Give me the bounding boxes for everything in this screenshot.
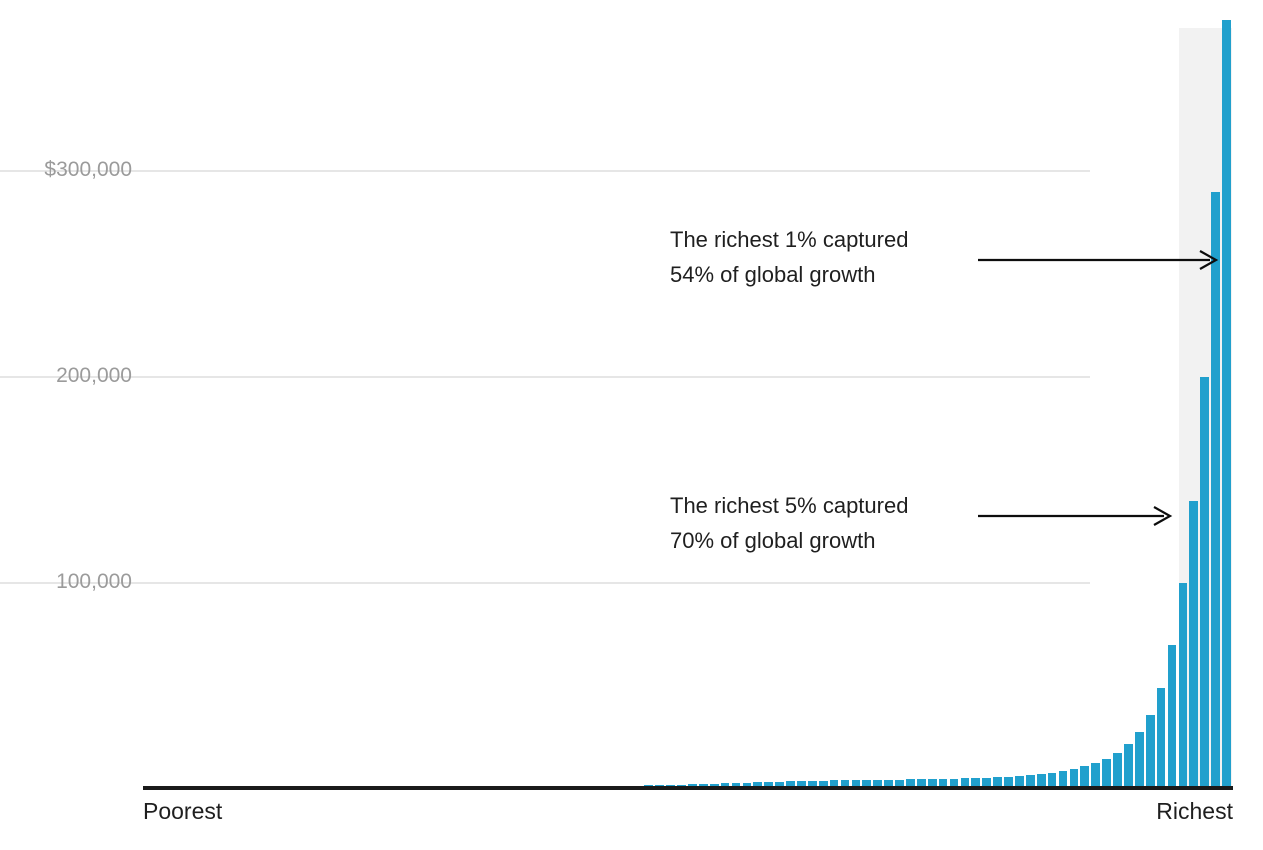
x-axis-line — [143, 786, 1233, 790]
x-axis-label-poorest: Poorest — [143, 798, 222, 825]
bar — [1157, 688, 1166, 789]
plot-area — [143, 20, 1233, 789]
annotation-richest-1-percent: The richest 1% captured 54% of global gr… — [670, 222, 908, 292]
bar — [1189, 501, 1198, 789]
y-axis-tick-label: 200,000 — [56, 364, 132, 388]
annotation-arrow-richest-5-percent — [978, 504, 1174, 528]
annotation-arrow-richest-1-percent — [978, 248, 1220, 272]
x-axis-label-richest: Richest — [1156, 798, 1233, 825]
annotation-line-2: 54% of global growth — [670, 257, 908, 292]
bar — [1135, 732, 1144, 789]
y-axis-tick-label: 100,000 — [56, 570, 132, 594]
bar — [1168, 645, 1177, 789]
annotation-richest-5-percent: The richest 5% captured 70% of global gr… — [670, 488, 908, 558]
income-growth-bar-chart: $300,000200,000100,000 Poorest Richest T… — [0, 0, 1263, 850]
annotation-line-2: 70% of global growth — [670, 523, 908, 558]
bar — [1113, 753, 1122, 789]
y-axis-tick-label: $300,000 — [44, 158, 132, 182]
bar — [1124, 744, 1133, 789]
bar — [1222, 20, 1231, 789]
bar — [1200, 377, 1209, 789]
annotation-line-1: The richest 1% captured — [670, 222, 908, 257]
bar — [1179, 583, 1188, 789]
bar — [1102, 759, 1111, 789]
bar — [1211, 192, 1220, 789]
annotation-line-1: The richest 5% captured — [670, 488, 908, 523]
bar — [1146, 715, 1155, 789]
